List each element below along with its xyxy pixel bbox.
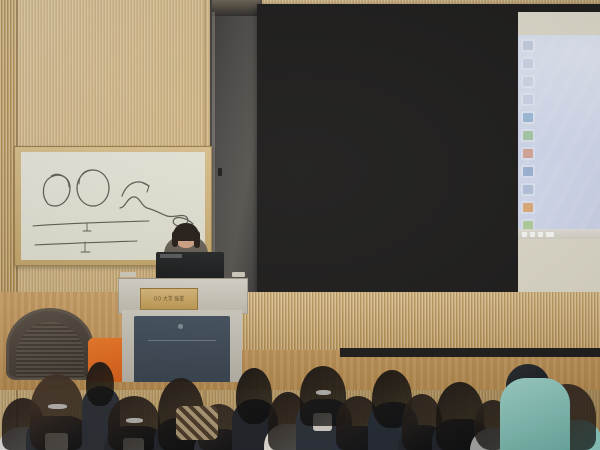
projected-windows-desktop [518,35,600,239]
audience-head [86,362,114,406]
spreadsheet-icon[interactable] [521,165,535,178]
projection-screen-frame [257,4,600,292]
hair-tie-accessory [126,418,144,423]
hair-tie-accessory [316,390,332,395]
projection-screen-surface [518,12,600,292]
audience-head [30,374,84,450]
wall-recess-header [212,0,260,16]
desk-item [120,272,136,277]
recycle-bin-icon[interactable] [521,39,535,52]
wall-recess-latch [218,168,222,176]
audience-rows [0,352,600,450]
windows-taskbar[interactable] [518,229,600,239]
oval-sketch-left [43,175,70,206]
folder-icon[interactable] [521,57,535,70]
horizontal-line-lower [35,241,137,245]
shield-icon[interactable] [521,183,535,196]
desktop-icon-column[interactable] [521,39,539,237]
lectern-plaque: OO 大学 強堂 [140,288,198,310]
wall-recess-highlight [212,12,215,262]
lecture-hall-photo: OO 大学 強堂 [0,0,600,450]
wavy-loop-sketch [120,197,167,216]
player-icon[interactable] [521,129,535,142]
pdf-icon[interactable] [521,147,535,160]
browser-icon[interactable] [521,111,535,124]
mint-puffer-jacket [500,378,570,450]
lectern-plaque-text: OO 大学 強堂 [154,295,185,303]
desk-item [232,272,245,277]
text-file-icon[interactable] [521,93,535,106]
presenter-hair-side [194,231,200,248]
plaid-scarf [176,406,218,440]
audience-head [108,396,160,450]
lower-wood-wall [230,292,600,350]
audience-head [236,368,272,424]
vlc-cone-icon[interactable] [521,201,535,214]
horizontal-line-upper [33,221,149,226]
document-icon[interactable] [521,75,535,88]
